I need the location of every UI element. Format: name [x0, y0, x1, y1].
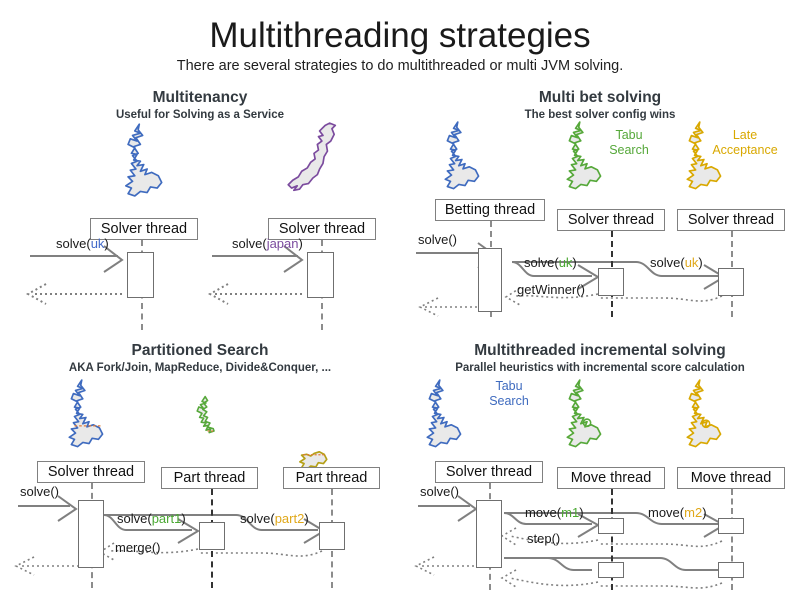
call-arg-m1: m1 — [561, 505, 579, 520]
seq-arrows-multi-bet — [416, 243, 724, 316]
activation-solver-japan — [307, 252, 334, 298]
call-label-move-m2: move(m2) — [648, 505, 707, 520]
uk-map-inc-green — [567, 380, 600, 447]
activation-part2 — [319, 522, 345, 550]
call-arg-uk: uk — [91, 236, 105, 251]
japan-map-multitenancy — [288, 123, 335, 190]
call-arg-part2: part2 — [275, 511, 305, 526]
thread-box-betting[interactable]: Betting thread — [435, 199, 545, 221]
diagram-canvas: Multithreading strategies There are seve… — [0, 0, 800, 600]
activation-solver-tabu — [598, 268, 624, 296]
quadrant-subtitle-incremental: Parallel heuristics with incremental sco… — [400, 361, 800, 376]
call-label-merge: merge() — [115, 540, 161, 555]
call-arg-japan: japan — [267, 236, 299, 251]
page-title: Multithreading strategies — [0, 16, 800, 56]
thread-box-move1[interactable]: Move thread — [557, 467, 665, 489]
activation-solver-partitioned — [78, 500, 104, 568]
uk-part1-map — [197, 397, 215, 433]
activation-solver-late — [718, 268, 744, 296]
uk-map-split — [69, 380, 102, 447]
map-caption-tabu-search-bet: Tabu Search — [594, 128, 664, 158]
map-caption-tabu-search-inc: Tabu Search — [474, 379, 544, 409]
thread-box-solver-tabu[interactable]: Solver thread — [557, 209, 665, 231]
call-label-solve-uk-late: solve(uk) — [650, 255, 703, 270]
activation-betting — [478, 248, 502, 312]
activation-solver-uk — [127, 252, 154, 298]
quadrant-title-multi-bet: Multi bet solving — [400, 88, 800, 107]
activation-solver-incremental — [476, 500, 502, 568]
quadrant-title-partitioned: Partitioned Search — [0, 341, 400, 360]
call-arg-uk-green: uk — [559, 255, 573, 270]
call-label-step: step() — [527, 531, 560, 546]
call-arg-m2: m2 — [684, 505, 702, 520]
quadrant-title-multitenancy: Multitenancy — [0, 88, 400, 107]
quadrant-subtitle-partitioned: AKA Fork/Join, MapReduce, Divide&Conquer… — [0, 361, 400, 376]
uk-map-inc-gold — [687, 380, 720, 447]
activation-move1-a — [598, 518, 624, 534]
thread-box-solver-late[interactable]: Solver thread — [677, 209, 785, 231]
call-label-solve-incremental: solve() — [420, 484, 459, 499]
quadrant-subtitle-multi-bet: The best solver config wins — [400, 108, 800, 123]
quadrant-title-incremental: Multithreaded incremental solving — [400, 341, 800, 360]
call-arg-part1: part1 — [152, 511, 182, 526]
thread-box-part1[interactable]: Part thread — [161, 467, 258, 489]
thread-box-move2[interactable]: Move thread — [677, 467, 785, 489]
uk-map-multitenancy — [126, 124, 162, 196]
call-label-solve-part1: solve(part1) — [117, 511, 186, 526]
seq-arrows-multitenancy — [28, 246, 302, 304]
activation-part1 — [199, 522, 225, 550]
call-label-solve-japan: solve(japan) — [232, 236, 303, 251]
page-subtitle: There are several strategies to do multi… — [0, 57, 800, 75]
activation-move2-b — [718, 562, 744, 578]
call-label-solve-uk: solve(uk) — [56, 236, 109, 251]
thread-box-solver-partitioned[interactable]: Solver thread — [37, 461, 145, 483]
uk-map-inc-blue — [427, 380, 460, 447]
activation-move1-b — [598, 562, 624, 578]
call-arg-uk-gold: uk — [685, 255, 699, 270]
call-label-solve-part2: solve(part2) — [240, 511, 309, 526]
thread-box-part2[interactable]: Part thread — [283, 467, 380, 489]
quadrant-subtitle-multitenancy: Useful for Solving as a Service — [0, 108, 400, 123]
call-label-solve-partitioned: solve() — [20, 484, 59, 499]
seq-arrows-partitioned — [16, 496, 324, 575]
call-label-move-m1: move(m1) — [525, 505, 584, 520]
uk-map-bet-blue — [445, 122, 478, 189]
thread-box-solver-incremental[interactable]: Solver thread — [435, 461, 543, 483]
call-label-solve-uk-tabu: solve(uk) — [524, 255, 577, 270]
call-label-getwinner: getWinner() — [517, 282, 585, 297]
call-label-solve-bet: solve() — [418, 232, 457, 247]
map-caption-late-acceptance: Late Acceptance — [700, 128, 790, 158]
activation-move2-a — [718, 518, 744, 534]
